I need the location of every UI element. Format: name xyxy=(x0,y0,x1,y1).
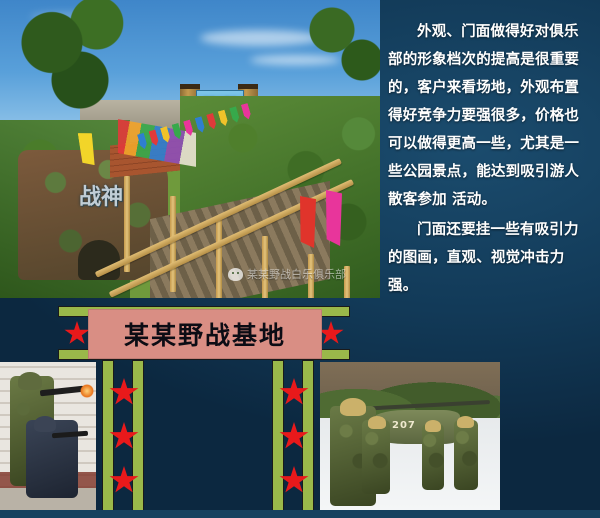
watermark-text: 某某野战白乐俱乐部 xyxy=(247,266,346,282)
muzzle-flash xyxy=(80,384,94,398)
photo-watermark: 某某野战白乐俱乐部 xyxy=(228,264,378,284)
red-flag xyxy=(300,196,316,248)
rail-post xyxy=(216,216,222,298)
helmet xyxy=(425,420,441,432)
tree-left xyxy=(10,0,150,140)
column-bar xyxy=(132,360,144,512)
wechat-icon xyxy=(228,268,243,281)
helmet xyxy=(340,398,366,416)
helmet xyxy=(457,416,474,428)
column-bar xyxy=(102,360,114,512)
body-paragraph-2: 门面还要挂一些有吸引力的图画，直观、视觉冲击力强。 xyxy=(388,216,588,300)
red-star-icon xyxy=(64,321,90,346)
hero-photo: 战神CS基地 战神 xyxy=(0,0,380,298)
soldier-running xyxy=(454,420,478,490)
slide-canvas: 战神CS基地 战神 xyxy=(0,0,600,518)
bottom-strip xyxy=(0,510,600,518)
helicopter-tail-number: 207 xyxy=(392,420,416,431)
star-column-left xyxy=(98,360,154,512)
column-bar xyxy=(272,360,284,512)
body-paragraph-1: 外观、门面做得好对俱乐部的形象档次的提高是很重要的，客户来看场地，外观布置得好竞… xyxy=(388,18,588,214)
photo-bottom-right: 207 xyxy=(320,362,500,510)
helmet xyxy=(18,372,42,390)
body-text-panel: 外观、门面做得好对俱乐部的形象档次的提高是很重要的，客户来看场地，外观布置得好竞… xyxy=(384,0,600,310)
pink-flag xyxy=(326,190,342,246)
column-bar xyxy=(302,360,314,512)
photo-bottom-left xyxy=(0,362,96,510)
sign-title: 某某野战基地 xyxy=(124,316,286,352)
helmet xyxy=(34,416,56,432)
soldier-running xyxy=(422,424,444,490)
title-sign: 某某野战基地 xyxy=(58,306,350,360)
rail-post xyxy=(170,196,176,292)
helmet xyxy=(368,416,386,429)
star-column-right xyxy=(268,360,324,512)
soldier-running xyxy=(362,420,390,494)
sign-plate: 某某野战基地 xyxy=(88,309,322,359)
